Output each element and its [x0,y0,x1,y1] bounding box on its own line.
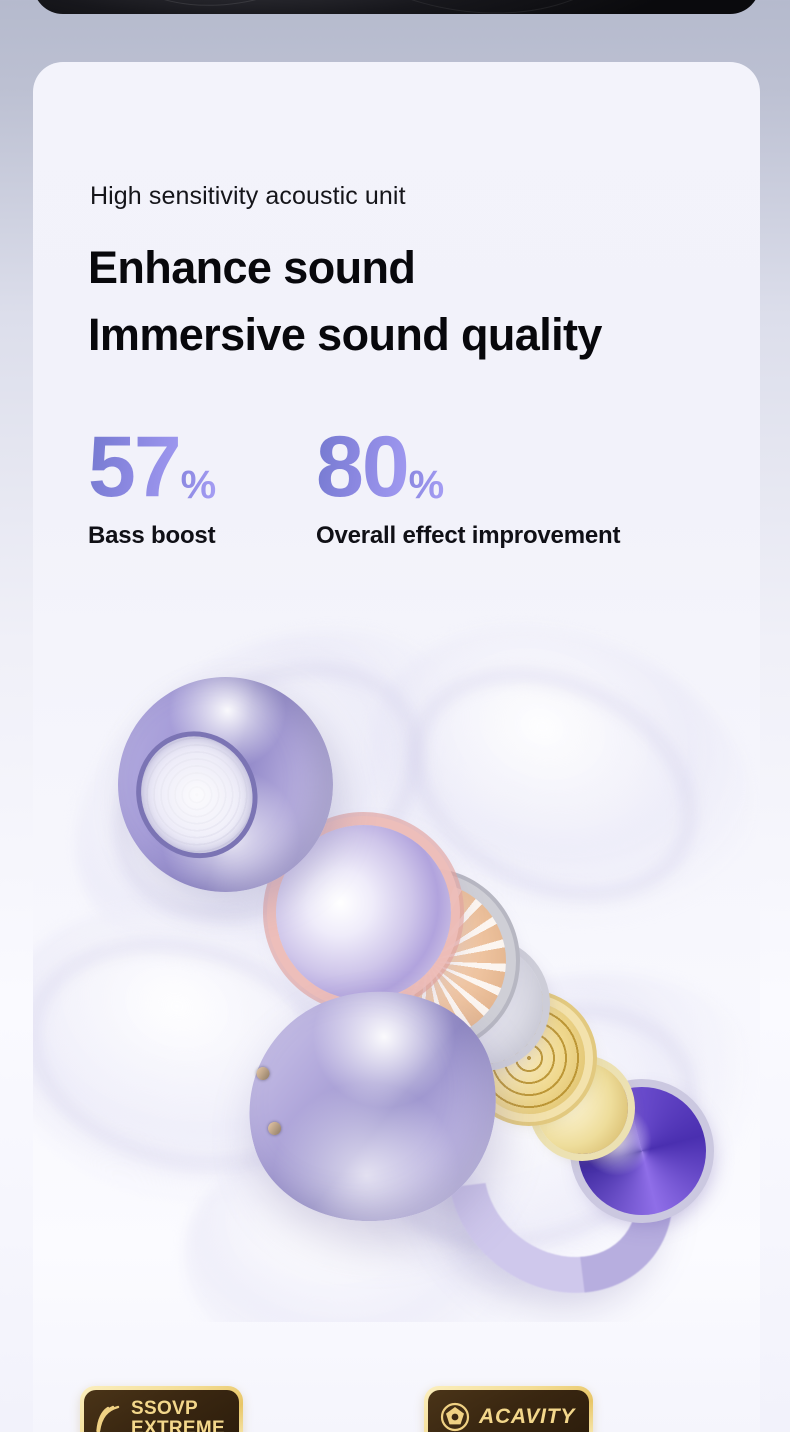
badge-label: SSOVP EXTREME [131,1399,225,1432]
badge-label: ACAVITY [479,1406,575,1428]
previous-section-card [33,0,760,14]
pentagon-icon [440,1402,470,1432]
badge-inner: ACAVITY [428,1390,589,1432]
mesh-grille-icon [116,712,278,878]
headline-line-2: Immersive sound quality [88,301,602,368]
headline-line-1: Enhance sound [88,242,415,293]
page-title: Enhance sound Immersive sound quality [88,234,602,368]
certification-badges: SSOVP EXTREME ACAVITY [33,1386,760,1432]
sound-wave-icon [96,1404,122,1432]
stat-percent-sign: % [181,465,217,510]
eyebrow-text: High sensitivity acoustic unit [90,182,406,211]
stat-overall-effect: 80 % Overall effect improvement [316,424,620,550]
feature-card: High sensitivity acoustic unit Enhance s… [33,62,760,1432]
swirl-decoration [263,0,663,14]
stat-caption: Bass boost [88,522,216,550]
badge-ssovp-extreme[interactable]: SSOVP EXTREME [80,1386,243,1432]
contact-pin-icon [267,1120,283,1136]
product-image [33,582,760,1322]
contact-pin-icon [255,1065,271,1081]
stat-caption: Overall effect improvement [316,522,620,550]
stat-value-row: 57 % [88,424,216,510]
badge-acavity[interactable]: ACAVITY [424,1386,593,1432]
stat-number: 57 [88,424,180,510]
stat-value-row: 80 % [316,424,620,510]
stat-percent-sign: % [409,465,445,510]
badge-inner: SSOVP EXTREME [84,1390,239,1432]
badge-label-line-1: SSOVP [131,1398,198,1419]
swirl-decoration [69,0,416,14]
exploded-earbud-diagram [33,582,760,1322]
stat-bass-boost: 57 % Bass boost [88,424,216,550]
stat-number: 80 [316,424,408,510]
badge-label-line-2: EXTREME [131,1418,225,1432]
